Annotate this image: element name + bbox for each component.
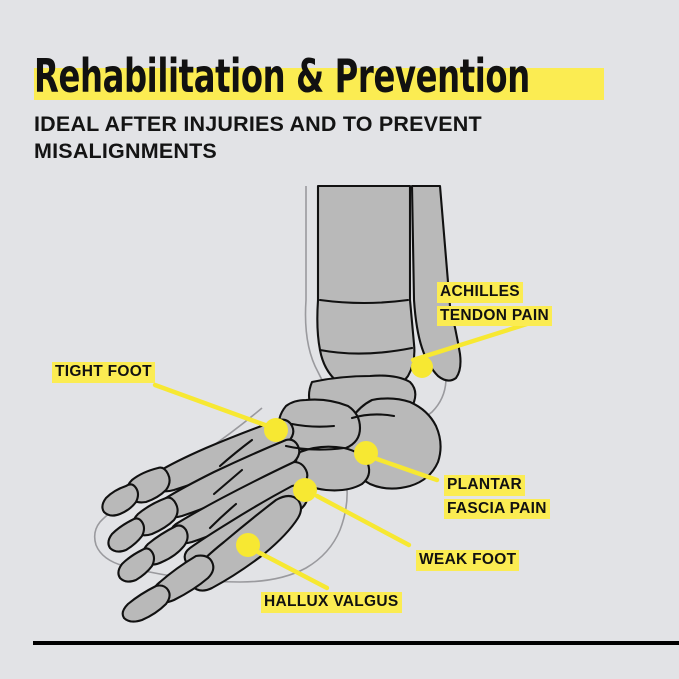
callout-line: TIGHT FOOT	[52, 362, 155, 383]
callout-hallux-valgus: HALLUX VALGUS	[261, 592, 402, 613]
callout-line: ACHILLES	[437, 282, 523, 303]
callout-line: HALLUX VALGUS	[261, 592, 402, 613]
callout-plantar-fascia-pain: PLANTAR FASCIA PAIN	[444, 475, 550, 519]
marker-achilles-tendon-pain	[411, 356, 433, 378]
callout-tight-foot: TIGHT FOOT	[52, 362, 155, 383]
callout-weak-foot: WEAK FOOT	[416, 550, 519, 571]
hallux-distal-phalanx	[123, 586, 170, 622]
callout-achilles-tendon-pain: ACHILLES TENDON PAIN	[437, 282, 552, 326]
leader-tight-foot	[155, 385, 265, 425]
leader-hallux-valgus	[258, 552, 327, 588]
callout-line: FASCIA PAIN	[444, 499, 550, 520]
foot-skeleton-illustration: .bone { fill:#b9b9b9; stroke:#111111; st…	[0, 0, 679, 679]
bottom-divider	[33, 641, 679, 645]
callout-line: PLANTAR	[444, 475, 525, 496]
leader-weak-foot	[317, 496, 409, 545]
marker-hallux-valgus	[236, 533, 260, 557]
marker-plantar-fascia-pain	[354, 441, 378, 465]
callout-line: WEAK FOOT	[416, 550, 519, 571]
tibia-bone	[317, 186, 414, 392]
marker-weak-foot	[293, 478, 317, 502]
infographic-canvas: Rehabilitation & Prevention IDEAL AFTER …	[0, 0, 679, 679]
callout-line: TENDON PAIN	[437, 306, 552, 327]
marker-tight-foot	[264, 418, 288, 442]
